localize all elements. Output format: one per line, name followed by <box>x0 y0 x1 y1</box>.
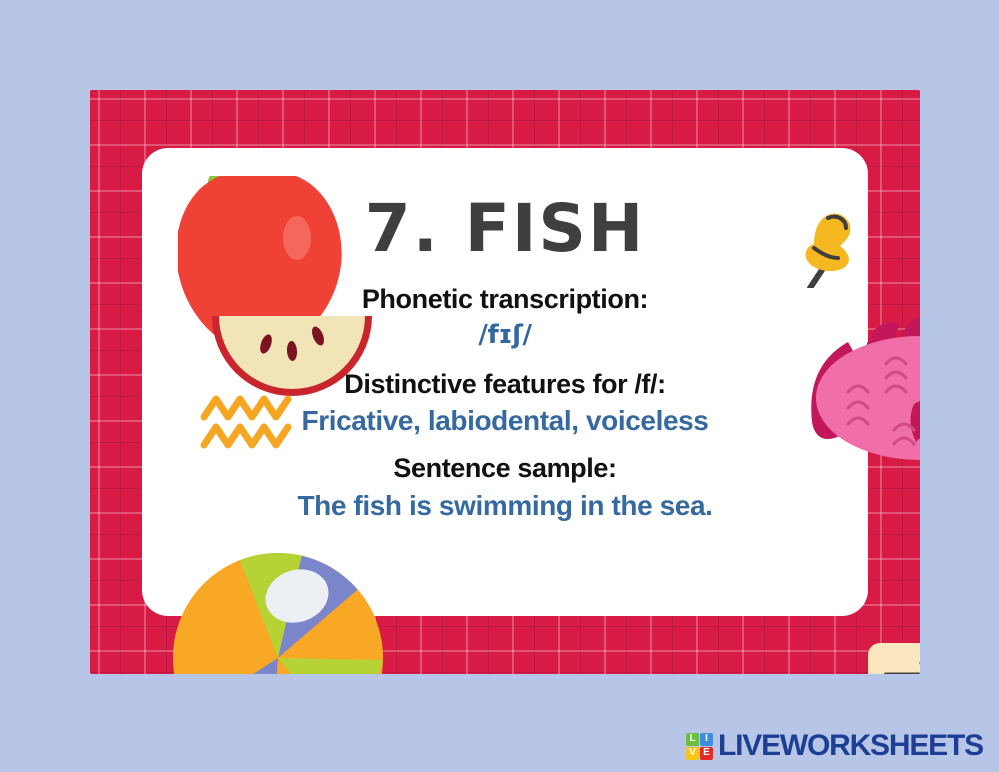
logo-tile-e: E <box>700 747 713 760</box>
sentence-sample-label: Sentence sample: <box>142 437 868 485</box>
sentence-sample-value: The fish is swimming in the sea. <box>142 485 868 522</box>
liveworksheets-logo[interactable]: L I V E LIVEWORKSHEETS <box>686 729 983 763</box>
distinctive-features-value: Fricative, labiodental, voiceless <box>142 400 868 437</box>
phonetic-transcription-label: Phonetic transcription: <box>142 262 868 316</box>
logo-wordmark: LIVEWORKSHEETS <box>718 729 983 763</box>
distinctive-features-label: Distinctive features for /f/: <box>142 351 868 401</box>
lesson-text-block: 7. FISH Phonetic transcription: /fɪʃ/ Di… <box>142 148 868 522</box>
page-title: 7. FISH <box>142 148 868 262</box>
live-logo-mark: L I V E <box>686 733 713 760</box>
arrow-right-icon <box>884 660 920 675</box>
logo-tile-l: L <box>686 733 699 746</box>
phonetic-transcription-value: /fɪʃ/ <box>142 316 868 351</box>
logo-tile-v: V <box>686 747 699 760</box>
logo-tile-i: I <box>700 733 713 746</box>
content-panel: 7. FISH Phonetic transcription: /fɪʃ/ Di… <box>142 148 868 616</box>
next-button[interactable] <box>868 643 920 674</box>
worksheet-slide: 7. FISH Phonetic transcription: /fɪʃ/ Di… <box>90 90 920 674</box>
